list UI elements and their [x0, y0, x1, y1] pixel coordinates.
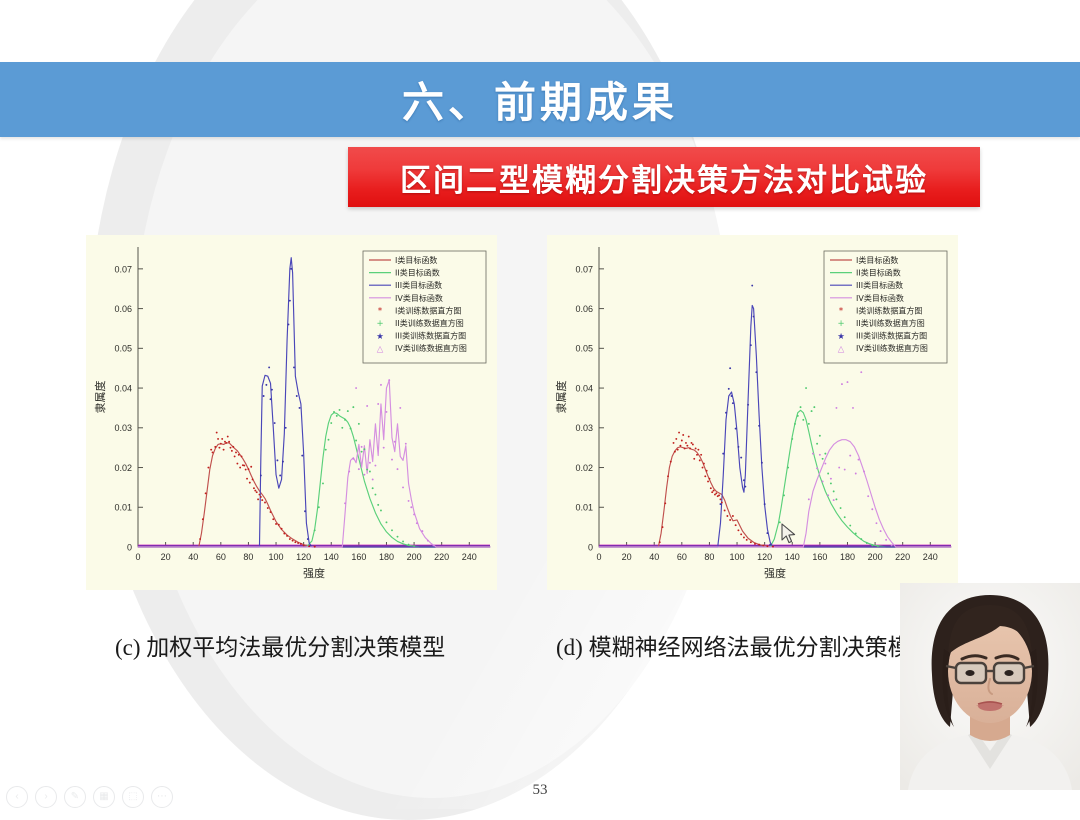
svg-text:0.07: 0.07 — [575, 264, 593, 274]
svg-text:0.05: 0.05 — [575, 344, 593, 354]
previous-slide-icon[interactable]: ‹ — [6, 786, 28, 808]
svg-text:I类训练数据直方图: I类训练数据直方图 — [856, 305, 922, 315]
svg-text:220: 220 — [434, 552, 449, 562]
svg-text:100: 100 — [269, 552, 284, 562]
svg-text:0.01: 0.01 — [114, 503, 132, 513]
svg-text:0.04: 0.04 — [575, 383, 593, 393]
svg-text:200: 200 — [868, 552, 883, 562]
chart-panel-d: 00.010.020.030.040.050.060.0702040608010… — [547, 235, 958, 590]
svg-text:II类训练数据直方图: II类训练数据直方图 — [395, 318, 464, 328]
svg-text:0: 0 — [596, 552, 601, 562]
svg-text:0.03: 0.03 — [575, 423, 593, 433]
svg-text:80: 80 — [704, 552, 714, 562]
svg-text:0.04: 0.04 — [114, 383, 132, 393]
svg-text:120: 120 — [296, 552, 311, 562]
svg-text:0.02: 0.02 — [114, 463, 132, 473]
svg-text:220: 220 — [895, 552, 910, 562]
svg-text:△: △ — [838, 344, 845, 354]
svg-text:强度: 强度 — [764, 566, 786, 580]
svg-text:*: * — [378, 307, 382, 317]
svg-text:IV类目标函数: IV类目标函数 — [395, 293, 443, 303]
pen-tool-icon[interactable]: ✎ — [64, 786, 86, 808]
svg-text:180: 180 — [379, 552, 394, 562]
svg-text:III类训练数据直方图: III类训练数据直方图 — [856, 331, 927, 341]
presenter-toolbar[interactable]: ‹›✎▦⬚⋯ — [6, 786, 173, 808]
svg-text:120: 120 — [757, 552, 772, 562]
zoom-tool-icon[interactable]: ⬚ — [122, 786, 144, 808]
svg-text:III类训练数据直方图: III类训练数据直方图 — [395, 331, 466, 341]
chart-d-figure: 00.010.020.030.040.050.060.0702040608010… — [547, 235, 958, 590]
svg-text:★: ★ — [376, 332, 384, 342]
svg-text:强度: 强度 — [303, 566, 325, 580]
svg-text:0.06: 0.06 — [114, 304, 132, 314]
caption-chart-d: (d) 模糊神经网络法最优分割决策模型 — [556, 628, 934, 662]
svg-text:+: + — [837, 319, 844, 329]
subtitle-text: 区间二型模糊分割决策方法对比试验 — [400, 155, 928, 200]
svg-text:140: 140 — [324, 552, 339, 562]
svg-text:III类目标函数: III类目标函数 — [395, 280, 442, 290]
chart-c-figure: 00.010.020.030.040.050.060.0702040608010… — [86, 235, 497, 590]
svg-text:II类训练数据直方图: II类训练数据直方图 — [856, 318, 925, 328]
svg-text:200: 200 — [407, 552, 422, 562]
svg-text:IV类训练数据直方图: IV类训练数据直方图 — [856, 343, 928, 353]
svg-text:II类目标函数: II类目标函数 — [395, 268, 440, 278]
svg-text:0.05: 0.05 — [114, 344, 132, 354]
svg-text:40: 40 — [649, 552, 659, 562]
svg-text:240: 240 — [462, 552, 477, 562]
svg-text:0: 0 — [127, 542, 132, 552]
chart-panel-c: 00.010.020.030.040.050.060.0702040608010… — [86, 235, 497, 590]
svg-text:40: 40 — [188, 552, 198, 562]
more-options-icon[interactable]: ⋯ — [151, 786, 173, 808]
page-title: 六、前期成果 — [0, 62, 1080, 137]
next-slide-icon[interactable]: › — [35, 786, 57, 808]
svg-text:0.02: 0.02 — [575, 463, 593, 473]
svg-text:I类目标函数: I类目标函数 — [395, 255, 437, 265]
svg-text:60: 60 — [216, 552, 226, 562]
svg-text:0: 0 — [588, 542, 593, 552]
mouse-cursor — [781, 523, 797, 545]
svg-text:IV类训练数据直方图: IV类训练数据直方图 — [395, 343, 467, 353]
svg-text:0: 0 — [135, 552, 140, 562]
all-slides-icon[interactable]: ▦ — [93, 786, 115, 808]
svg-text:20: 20 — [161, 552, 171, 562]
caption-chart-c: (c) 加权平均法最优分割决策模型 — [115, 628, 445, 662]
svg-text:III类目标函数: III类目标函数 — [856, 280, 903, 290]
svg-text:0.03: 0.03 — [114, 423, 132, 433]
svg-text:240: 240 — [923, 552, 938, 562]
svg-text:140: 140 — [785, 552, 800, 562]
svg-text:I类目标函数: I类目标函数 — [856, 255, 898, 265]
svg-text:隶属度: 隶属度 — [554, 381, 568, 414]
svg-text:160: 160 — [812, 552, 827, 562]
presenter-avatar — [900, 583, 1080, 790]
subtitle-banner: 区间二型模糊分割决策方法对比试验 — [348, 147, 980, 207]
svg-text:I类训练数据直方图: I类训练数据直方图 — [395, 305, 461, 315]
svg-text:80: 80 — [243, 552, 253, 562]
svg-text:IV类目标函数: IV类目标函数 — [856, 293, 904, 303]
svg-text:160: 160 — [351, 552, 366, 562]
svg-text:II类目标函数: II类目标函数 — [856, 268, 901, 278]
svg-text:△: △ — [377, 344, 384, 354]
svg-text:0.07: 0.07 — [114, 264, 132, 274]
svg-text:隶属度: 隶属度 — [93, 381, 107, 414]
presenter-video-overlay[interactable] — [900, 583, 1080, 790]
svg-text:100: 100 — [730, 552, 745, 562]
svg-text:*: * — [839, 307, 843, 317]
svg-text:★: ★ — [837, 332, 845, 342]
svg-text:0.06: 0.06 — [575, 304, 593, 314]
svg-text:+: + — [376, 319, 383, 329]
svg-text:180: 180 — [840, 552, 855, 562]
svg-text:20: 20 — [622, 552, 632, 562]
svg-text:0.01: 0.01 — [575, 503, 593, 513]
svg-text:60: 60 — [677, 552, 687, 562]
